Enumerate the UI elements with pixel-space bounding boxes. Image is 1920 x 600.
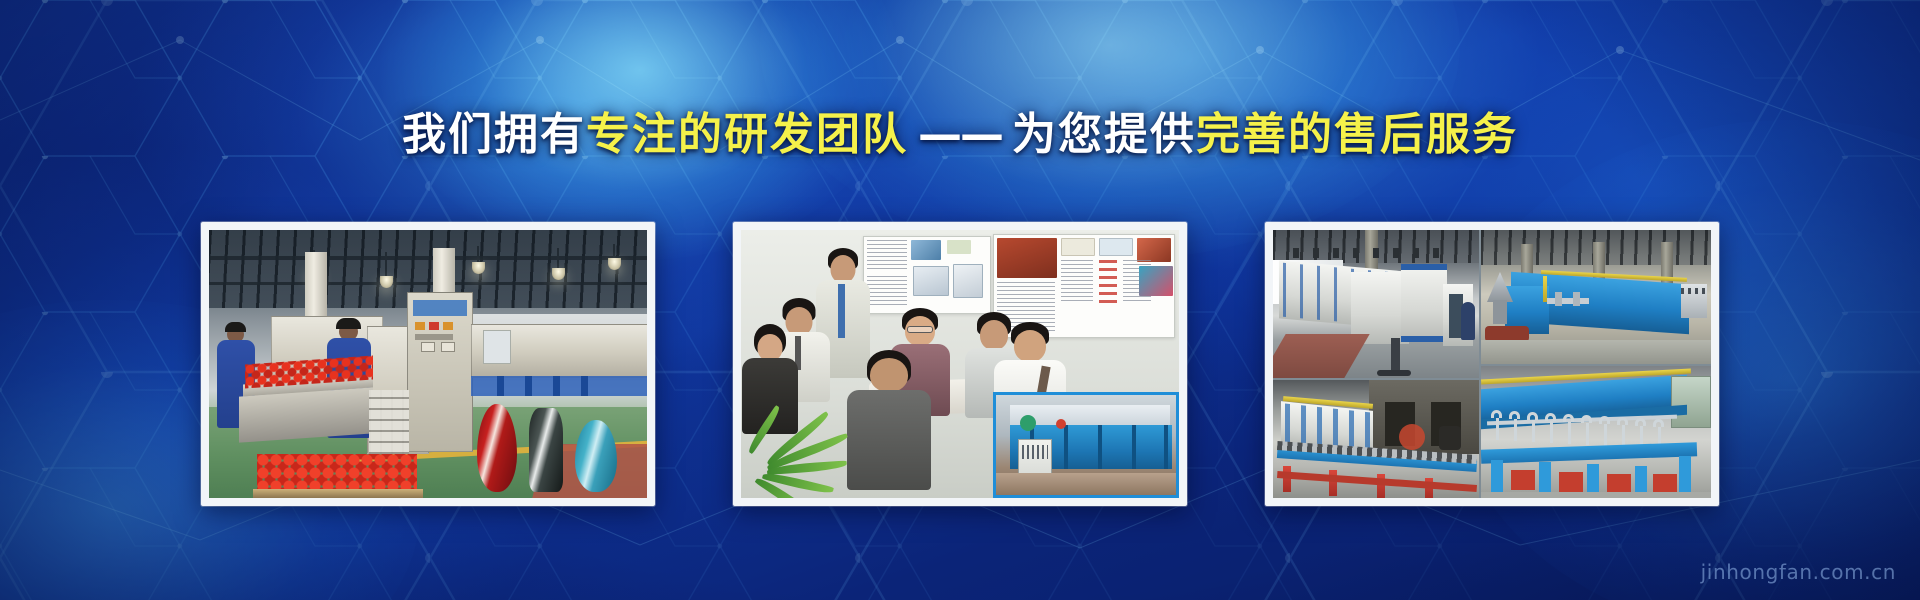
page-title: 我们拥有专注的研发团队——为您提供完善的售后服务	[0, 113, 1920, 157]
collage-cell-bottom-right	[1481, 366, 1711, 498]
photo-equipment-collage	[1273, 230, 1711, 498]
photo-frame-1[interactable]	[201, 222, 655, 506]
headline-segment-4: 完善的售后服务	[1196, 109, 1518, 160]
photo-frame-2[interactable]	[733, 222, 1187, 506]
promo-banner: 我们拥有专注的研发团队——为您提供完善的售后服务	[0, 0, 1920, 600]
site-watermark: jinhongfan.com.cn	[1701, 560, 1896, 584]
headline-segment-3: 为您提供	[1012, 109, 1196, 160]
collage-cell-top-right	[1481, 230, 1711, 364]
photo-frame-3[interactable]	[1265, 222, 1719, 506]
collage-cell-bottom-left	[1273, 380, 1479, 498]
headline-dash: ——	[908, 109, 1012, 160]
photo-production-line	[209, 230, 647, 498]
machinery-inset	[993, 392, 1179, 498]
photo-team-meeting	[741, 230, 1179, 498]
plant	[741, 408, 871, 498]
collage-cell-top-left	[1273, 230, 1479, 378]
photo-gallery	[0, 222, 1920, 506]
headline-segment-1: 我们拥有	[402, 109, 586, 160]
headline-segment-2: 专注的研发团队	[586, 109, 908, 160]
